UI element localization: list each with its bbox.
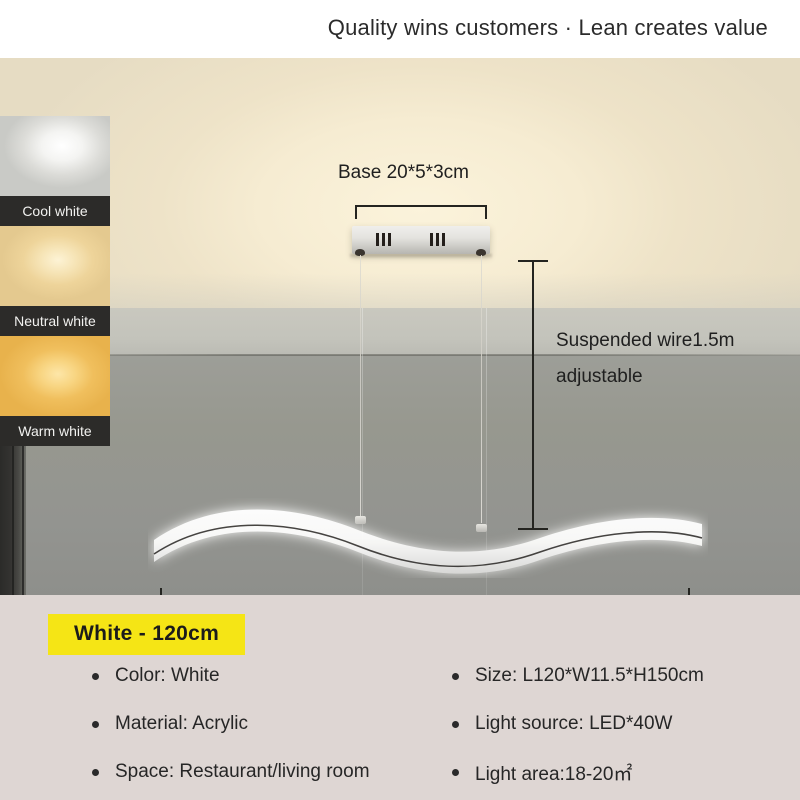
base-dimension-label: Base 20*5*3cm bbox=[338, 162, 469, 184]
swatch-neutral-white-image bbox=[0, 226, 110, 306]
size-dimension-tick bbox=[688, 588, 690, 595]
wire-dimension-tick bbox=[518, 260, 548, 262]
bullet-icon bbox=[92, 769, 99, 776]
base-vent-group bbox=[376, 233, 391, 246]
bullet-icon bbox=[452, 673, 459, 680]
base-dimension-bar bbox=[355, 205, 487, 207]
size-dimension-tick bbox=[160, 588, 162, 595]
variant-badge: White - 120cm bbox=[48, 614, 245, 655]
swatch-cool-white-label: Cool white bbox=[0, 196, 110, 226]
swatch-cool-white-image bbox=[0, 116, 110, 196]
swatch-warm-white-label: Warm white bbox=[0, 416, 110, 446]
spec-item-space: Space: Restaurant/living room bbox=[92, 748, 370, 796]
spec-item-material: Material: Acrylic bbox=[92, 700, 370, 748]
spec-item-light-area-text: Light area:18-20㎡ bbox=[475, 759, 632, 786]
base-dimension-tick bbox=[485, 205, 487, 219]
color-temperature-swatches: Cool white Neutral white Warm white bbox=[0, 116, 110, 448]
spec-column-left: Color: White Material: Acrylic Space: Re… bbox=[92, 652, 370, 796]
wire-dimension-line bbox=[532, 260, 534, 530]
swatch-neutral-white-label: Neutral white bbox=[0, 306, 110, 336]
bullet-icon bbox=[92, 673, 99, 680]
ceiling-base-plate bbox=[352, 226, 490, 254]
banner-slogan: Quality wins customers · Lean creates va… bbox=[328, 15, 768, 41]
wire-dimension-label: Suspended wire1.5m adjustable bbox=[556, 323, 735, 395]
spec-item-light-area: Light area:18-20㎡ bbox=[452, 748, 704, 796]
spec-item-color: Color: White bbox=[92, 652, 370, 700]
wire-dimension-label-line1: Suspended wire1.5m bbox=[556, 323, 735, 359]
bullet-icon bbox=[452, 721, 459, 728]
spec-item-material-text: Material: Acrylic bbox=[115, 713, 248, 735]
base-shadow bbox=[350, 254, 492, 259]
product-scene: Base 20*5*3cm Suspended wire1.5m adjusta… bbox=[0, 58, 800, 595]
suspension-wire bbox=[481, 255, 482, 523]
wire-dimension-tick bbox=[518, 528, 548, 530]
bullet-icon bbox=[452, 769, 459, 776]
spec-column-right: Size: L120*W11.5*H150cm Light source: LE… bbox=[452, 652, 704, 796]
base-vent-group bbox=[430, 233, 445, 246]
wire-dimension-label-line2: adjustable bbox=[556, 359, 735, 395]
suspension-wire bbox=[360, 255, 361, 523]
swatch-warm-white-image bbox=[0, 336, 110, 416]
spec-item-size-text: Size: L120*W11.5*H150cm bbox=[475, 665, 704, 687]
spec-item-light-source-text: Light source: LED*40W bbox=[475, 713, 673, 735]
product-image: Quality wins customers · Lean creates va… bbox=[0, 0, 800, 800]
spec-item-size: Size: L120*W11.5*H150cm bbox=[452, 652, 704, 700]
spec-item-light-source: Light source: LED*40W bbox=[452, 700, 704, 748]
top-banner: Quality wins customers · Lean creates va… bbox=[0, 0, 800, 58]
wave-lamp-body bbox=[148, 498, 708, 578]
spec-item-color-text: Color: White bbox=[115, 665, 220, 687]
bullet-icon bbox=[92, 721, 99, 728]
spec-item-space-text: Space: Restaurant/living room bbox=[115, 761, 370, 783]
base-dimension-tick bbox=[355, 205, 357, 219]
